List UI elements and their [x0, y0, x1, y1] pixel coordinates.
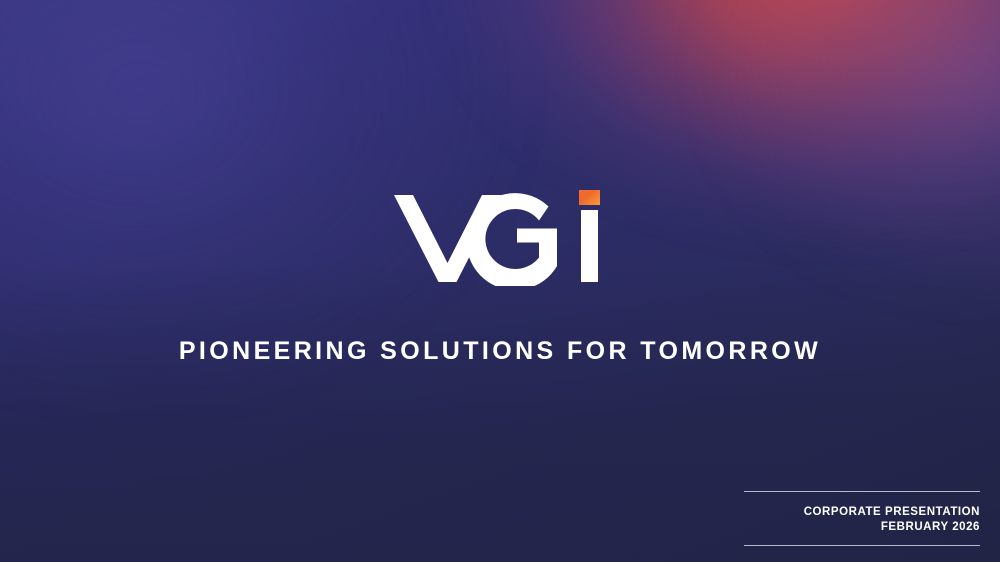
footer-date: FEBRUARY 2026: [744, 520, 980, 535]
slide-tagline: PIONEERING SOLUTIONS FOR TOMORROW: [0, 337, 1000, 366]
footer-rule-bottom: [744, 545, 980, 546]
logo-letter-i-stem: [581, 210, 598, 282]
slide-footer: CORPORATE PRESENTATION FEBRUARY 2026: [744, 491, 980, 546]
footer-text-block: CORPORATE PRESENTATION FEBRUARY 2026: [744, 492, 980, 545]
vgi-logo: [394, 190, 606, 286]
brand-lockup: PIONEERING SOLUTIONS FOR TOMORROW: [0, 190, 1000, 366]
footer-title: CORPORATE PRESENTATION: [744, 505, 980, 520]
logo-letter-i-dot: [579, 190, 600, 205]
presentation-title-slide: PIONEERING SOLUTIONS FOR TOMORROW CORPOR…: [0, 0, 1000, 562]
